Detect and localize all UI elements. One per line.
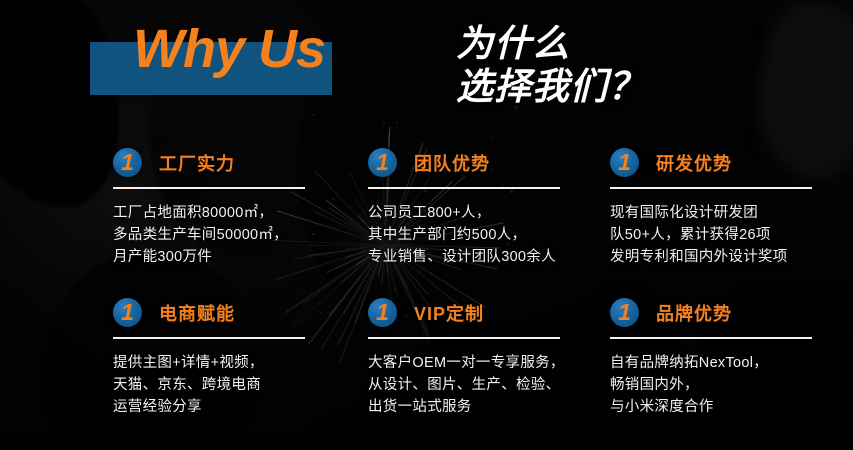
feature-body: 提供主图+详情+视频， 天猫、京东、跨境电商 运营经验分享 — [113, 352, 353, 418]
feature-body-line: 天猫、京东、跨境电商 — [113, 374, 353, 396]
feature-body: 现有国际化设计研发团 队50+人，累计获得26项 发明专利和国内外设计奖项 — [610, 202, 853, 268]
feature-body-line: 其中生产部门约500人， — [368, 224, 608, 246]
feature-divider — [113, 337, 305, 339]
feature-body-line: 自有品牌纳拓NexTool， — [610, 352, 853, 374]
feature-body-line: 工厂占地面积80000㎡， — [113, 202, 353, 224]
poster-header: Why Us 为什么 选择我们？ — [0, 0, 853, 140]
feature-body: 大客户OEM一对一专享服务， 从设计、图片、生产、检验、 出货一站式服务 — [368, 352, 608, 418]
badge-number: 1 — [610, 298, 639, 327]
feature-card-rnd: 1 研发优势 现有国际化设计研发团 队50+人，累计获得26项 发明专利和国内外… — [610, 146, 853, 268]
feature-card-team: 1 团队优势 公司员工800+人， 其中生产部门约500人， 专业销售、设计团队… — [368, 146, 608, 268]
number-badge-icon: 1 — [113, 148, 142, 177]
feature-title: 电商赋能 — [159, 300, 235, 326]
why-us-poster: Why Us 为什么 选择我们？ 1 工厂实力 工厂占地面积80000㎡， 多品… — [0, 0, 853, 450]
chinese-title-line1: 为什么 — [456, 23, 570, 64]
badge-number: 1 — [113, 298, 142, 327]
feature-header: 1 工厂实力 — [113, 146, 353, 182]
feature-body: 公司员工800+人， 其中生产部门约500人， 专业销售、设计团队300余人 — [368, 202, 608, 268]
feature-divider — [368, 337, 560, 339]
feature-body-line: 公司员工800+人， — [368, 202, 608, 224]
feature-body-line: 运营经验分享 — [113, 396, 353, 418]
feature-title: VIP定制 — [414, 300, 484, 326]
feature-body-line: 与小米深度合作 — [610, 396, 853, 418]
feature-divider — [610, 337, 812, 339]
number-badge-icon: 1 — [368, 148, 397, 177]
badge-number: 1 — [368, 298, 397, 327]
english-title: Why Us — [133, 22, 325, 76]
feature-body-line: 队50+人，累计获得26项 — [610, 224, 853, 246]
feature-divider — [610, 187, 812, 189]
feature-body-line: 从设计、图片、生产、检验、 — [368, 374, 608, 396]
badge-number: 1 — [368, 148, 397, 177]
feature-grid: 1 工厂实力 工厂占地面积80000㎡， 多品类生产车间50000㎡， 月产能3… — [0, 146, 853, 446]
feature-body-line: 畅销国内外， — [610, 374, 853, 396]
feature-body-line: 提供主图+详情+视频， — [113, 352, 353, 374]
feature-body-line: 月产能300万件 — [113, 246, 353, 268]
number-badge-icon: 1 — [610, 148, 639, 177]
feature-header: 1 电商赋能 — [113, 296, 353, 332]
feature-body-line: 多品类生产车间50000㎡， — [113, 224, 353, 246]
feature-body-line: 专业销售、设计团队300余人 — [368, 246, 608, 268]
feature-header: 1 研发优势 — [610, 146, 853, 182]
chinese-title: 为什么 选择我们？ — [456, 22, 646, 109]
feature-body-line: 大客户OEM一对一专享服务， — [368, 352, 608, 374]
feature-body-line: 出货一站式服务 — [368, 396, 608, 418]
feature-title: 工厂实力 — [159, 150, 235, 176]
feature-body-line: 现有国际化设计研发团 — [610, 202, 853, 224]
feature-header: 1 团队优势 — [368, 146, 608, 182]
feature-card-vip: 1 VIP定制 大客户OEM一对一专享服务， 从设计、图片、生产、检验、 出货一… — [368, 296, 608, 418]
feature-body: 自有品牌纳拓NexTool， 畅销国内外， 与小米深度合作 — [610, 352, 853, 418]
badge-number: 1 — [113, 148, 142, 177]
number-badge-icon: 1 — [368, 298, 397, 327]
feature-divider — [113, 187, 305, 189]
feature-body-line: 发明专利和国内外设计奖项 — [610, 246, 853, 268]
feature-body: 工厂占地面积80000㎡， 多品类生产车间50000㎡， 月产能300万件 — [113, 202, 353, 268]
feature-header: 1 VIP定制 — [368, 296, 608, 332]
feature-card-factory: 1 工厂实力 工厂占地面积80000㎡， 多品类生产车间50000㎡， 月产能3… — [113, 146, 353, 268]
feature-card-brand: 1 品牌优势 自有品牌纳拓NexTool， 畅销国内外， 与小米深度合作 — [610, 296, 853, 418]
number-badge-icon: 1 — [113, 298, 142, 327]
chinese-title-line2: 选择我们？ — [456, 65, 646, 108]
badge-number: 1 — [610, 148, 639, 177]
feature-title: 研发优势 — [656, 150, 732, 176]
number-badge-icon: 1 — [610, 298, 639, 327]
feature-header: 1 品牌优势 — [610, 296, 853, 332]
feature-title: 团队优势 — [414, 150, 490, 176]
feature-title: 品牌优势 — [656, 300, 732, 326]
feature-divider — [368, 187, 560, 189]
feature-card-ecommerce: 1 电商赋能 提供主图+详情+视频， 天猫、京东、跨境电商 运营经验分享 — [113, 296, 353, 418]
